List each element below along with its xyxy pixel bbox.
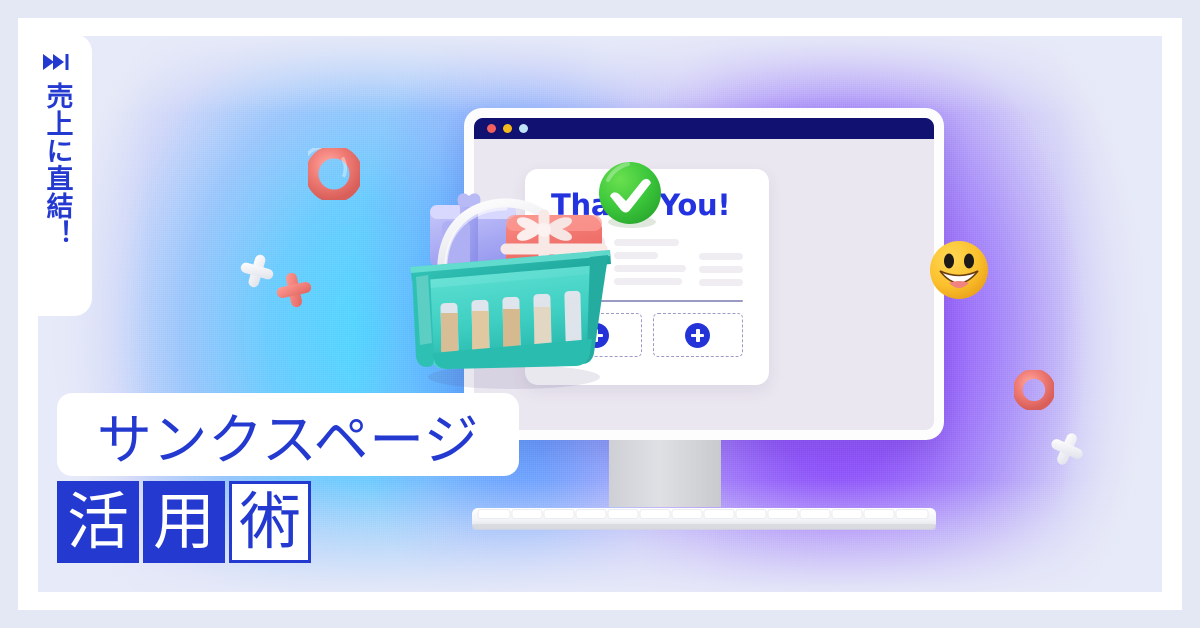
- headline-kanji-row: 活 用 術: [57, 481, 311, 563]
- browser-titlebar: [474, 118, 934, 139]
- vertical-badge: 売上に直結！: [20, 34, 92, 316]
- torus-icon: [1014, 370, 1054, 410]
- kanji-tile-2: 用: [143, 481, 225, 563]
- banner-root: Thank You!: [0, 0, 1200, 628]
- headline-box: サンクスページ: [57, 393, 519, 476]
- plus-circle-icon: [685, 323, 710, 348]
- maximize-dot[interactable]: [519, 124, 528, 133]
- close-dot[interactable]: [487, 124, 496, 133]
- vertical-badge-text: 売上に直結！: [40, 82, 73, 247]
- torus-icon: [308, 148, 360, 200]
- placeholder-line: [699, 253, 743, 260]
- skip-forward-icon: [41, 52, 71, 72]
- headline-primary: サンクスページ: [97, 395, 479, 475]
- placeholder-line: [699, 279, 743, 286]
- keyboard: [470, 502, 938, 534]
- kanji-tile-3: 術: [229, 481, 311, 563]
- cross-icon: [1046, 428, 1088, 470]
- cross-icon: [272, 268, 316, 312]
- shopping-basket-icon: [394, 163, 626, 391]
- placeholder-line: [699, 266, 743, 273]
- kanji-tile-1: 活: [57, 481, 139, 563]
- monitor-stand: [609, 440, 721, 507]
- minimize-dot[interactable]: [503, 124, 512, 133]
- placeholder-side-lines: [699, 236, 743, 286]
- add-button-2[interactable]: [653, 313, 744, 357]
- smiling-face-icon: [928, 239, 990, 301]
